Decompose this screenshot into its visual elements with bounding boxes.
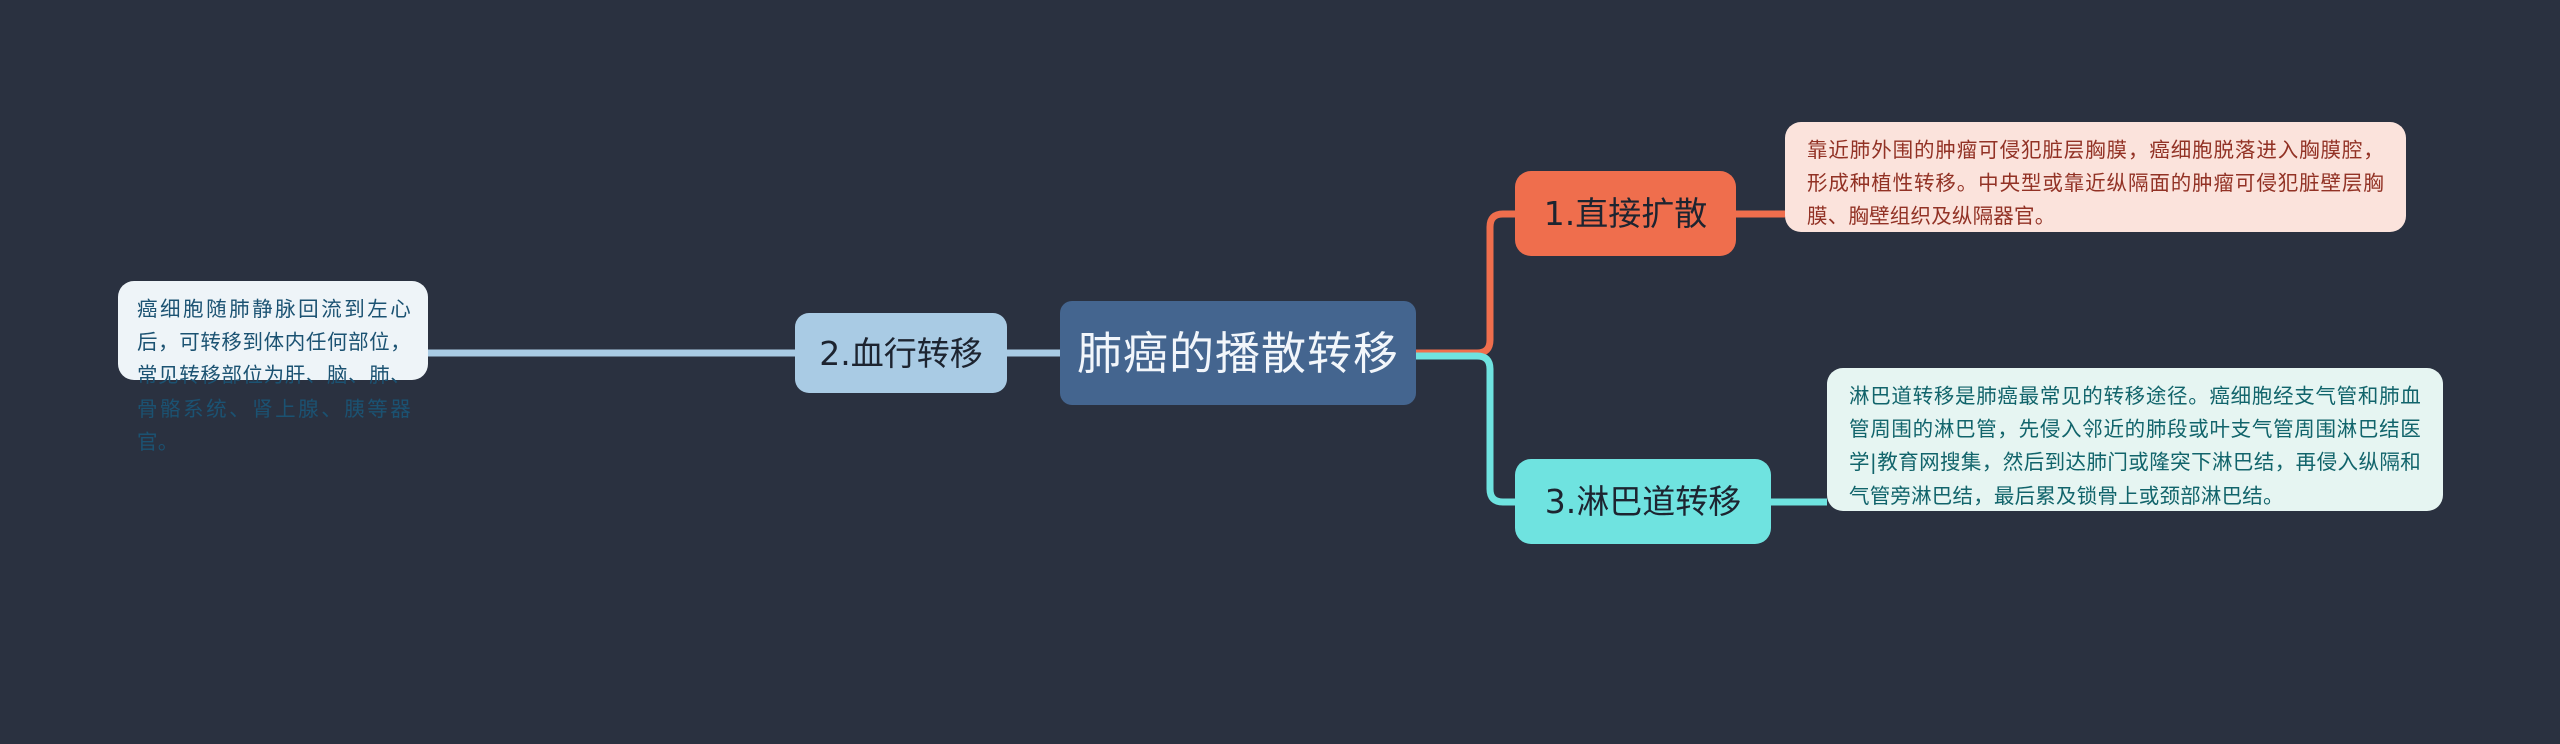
detail-box-blood: 癌细胞随肺静脉回流到左心后，可转移到体内任何部位，常见转移部位为肝、脑、肺、骨骼… [118,281,428,380]
branch-node-lymph[interactable]: 3.淋巴道转移 [1515,459,1771,544]
connector-branch-direct [1416,214,1515,353]
detail-box-direct: 靠近肺外围的肿瘤可侵犯脏层胸膜，癌细胞脱落进入胸膜腔，形成种植性转移。中央型或靠… [1785,122,2406,232]
detail-text-blood: 癌细胞随肺静脉回流到左心后，可转移到体内任何部位，常见转移部位为肝、脑、肺、骨骼… [137,293,411,459]
branch-node-blood[interactable]: 2.血行转移 [795,313,1007,393]
branch-node-direct[interactable]: 1.直接扩散 [1515,171,1736,256]
detail-box-lymph: 淋巴道转移是肺癌最常见的转移途径。癌细胞经支气管和肺血管周围的淋巴管，先侵入邻近… [1827,368,2443,511]
connector-branch-lymph [1416,356,1515,502]
detail-text-lymph: 淋巴道转移是肺癌最常见的转移途径。癌细胞经支气管和肺血管周围的淋巴管，先侵入邻近… [1849,380,2421,513]
mindmap-canvas: 肺癌的播散转移 2.血行转移 1.直接扩散 3.淋巴道转移 癌细胞随肺静脉回流到… [0,0,2560,744]
root-node[interactable]: 肺癌的播散转移 [1060,301,1416,405]
detail-text-direct: 靠近肺外围的肿瘤可侵犯脏层胸膜，癌细胞脱落进入胸膜腔，形成种植性转移。中央型或靠… [1807,134,2384,234]
